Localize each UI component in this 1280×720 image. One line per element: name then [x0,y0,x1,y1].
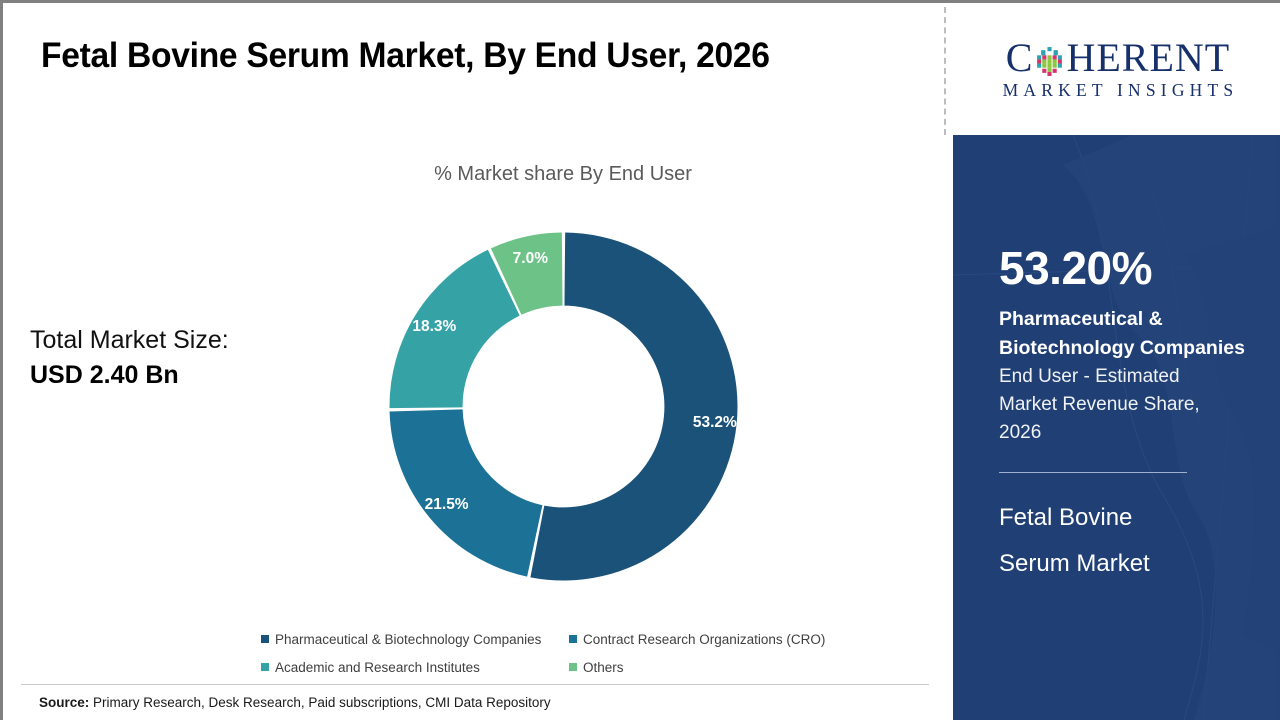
panel-category-line-2: Biotechnology Companies [999,334,1267,363]
donut-slice-label: 53.2% [693,414,737,431]
panel-description-line-2: Market Revenue Share, [999,391,1267,419]
legend-label: Pharmaceutical & Biotechnology Companies [275,632,541,647]
legend-label: Academic and Research Institutes [275,660,480,675]
panel-stat-value: 53.20% [999,245,1267,291]
legend-swatch-icon [569,663,577,671]
total-market-size-value: USD 2.40 Bn [30,360,290,391]
donut-slice-label: 7.0% [513,250,549,267]
donut-slice-label: 18.3% [412,318,456,335]
right-stat-panel: 53.20% Pharmaceutical & Biotechnology Co… [953,135,1280,720]
panel-market-name: Fetal Bovine Serum Market [999,495,1267,586]
legend-swatch-icon [261,663,269,671]
donut-chart-svg: 53.2%21.5%18.3%7.0% [386,229,741,584]
legend-item-2[interactable]: Academic and Research Institutes [261,660,569,675]
donut-slice-group [390,233,738,581]
chart-legend: Pharmaceutical & Biotechnology Companies… [261,625,861,681]
donut-chart: 53.2%21.5%18.3%7.0% [386,229,741,584]
source-divider [21,684,929,685]
panel-description-line-3: 2026 [999,419,1267,447]
panel-market-line-1: Fetal Bovine [999,495,1267,541]
source-text: Primary Research, Desk Research, Paid su… [89,695,550,710]
brand-wordmark: C [1006,38,1230,78]
legend-swatch-icon [261,635,269,643]
total-market-size-label: Total Market Size: [30,325,290,356]
donut-slice[interactable] [390,409,543,576]
source-line: Source: Primary Research, Desk Research,… [39,695,551,710]
brand-letter-c: C [1006,38,1034,78]
panel-stat-category: Pharmaceutical & Biotechnology Companies [999,305,1267,363]
legend-row: Academic and Research Institutes Others [261,653,861,681]
vertical-dashed-divider [944,7,946,135]
source-prefix: Source: [39,695,89,710]
brand-tagline: MARKET INSIGHTS [998,80,1239,101]
legend-item-1[interactable]: Contract Research Organizations (CRO) [569,632,825,647]
legend-swatch-icon [569,635,577,643]
brand-logo: C [953,3,1280,135]
panel-category-line-1: Pharmaceutical & [999,305,1267,334]
panel-description-line-1: End User - Estimated [999,363,1267,391]
legend-row: Pharmaceutical & Biotechnology Companies… [261,625,861,653]
panel-divider-rule [999,472,1187,473]
legend-item-3[interactable]: Others [569,660,624,675]
legend-item-0[interactable]: Pharmaceutical & Biotechnology Companies [261,632,569,647]
legend-label: Others [583,660,624,675]
panel-description: End User - Estimated Market Revenue Shar… [999,363,1267,447]
total-market-size-block: Total Market Size: USD 2.40 Bn [30,325,290,392]
brand-letters-herent: HERENT [1066,38,1230,78]
panel-content: 53.20% Pharmaceutical & Biotechnology Co… [999,245,1267,586]
page-title: Fetal Bovine Serum Market, By End User, … [41,36,770,76]
legend-label: Contract Research Organizations (CRO) [583,632,825,647]
main-content-area: Fetal Bovine Serum Market, By End User, … [3,3,947,720]
panel-market-line-2: Serum Market [999,541,1267,587]
donut-slice-label: 21.5% [425,496,469,513]
dotted-globe-icon [1034,44,1065,75]
infographic-root: Fetal Bovine Serum Market, By End User, … [0,0,1280,720]
